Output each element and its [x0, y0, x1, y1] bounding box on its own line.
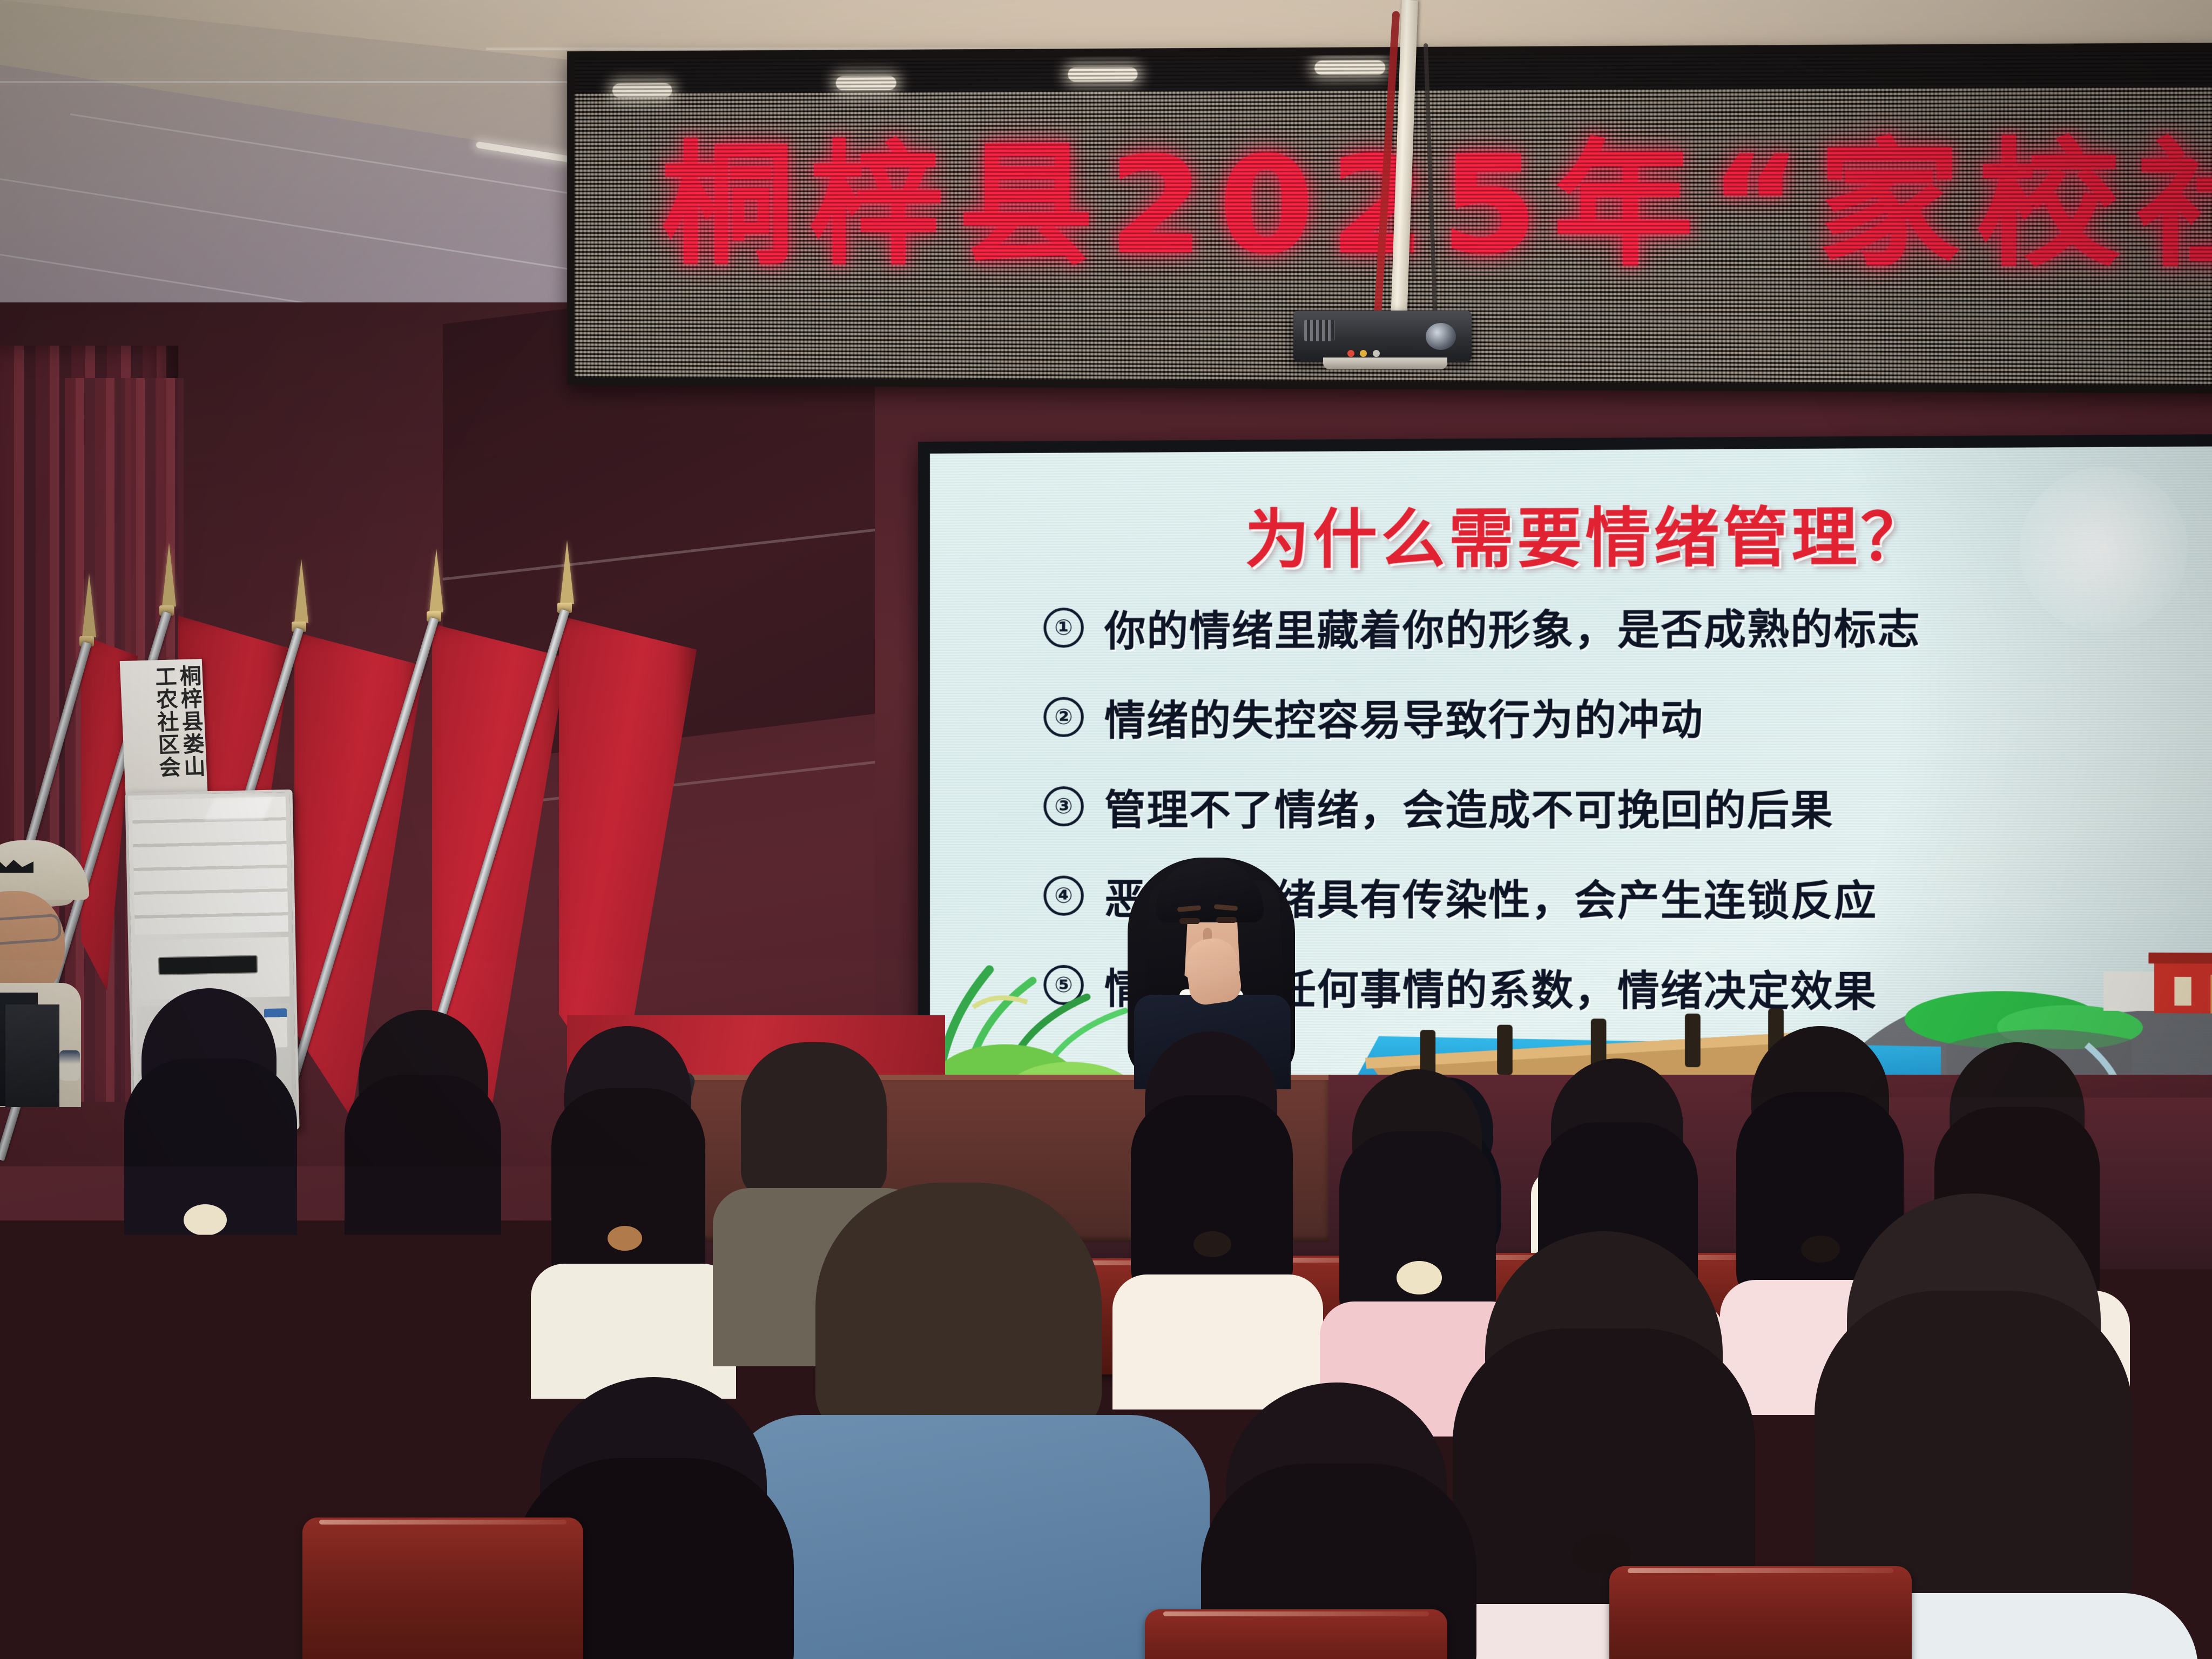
spear-head-icon: [82, 574, 96, 637]
projector-lens: [1426, 323, 1456, 350]
slide-list-item: ② 情绪的失控容易导致行为的冲动: [1043, 685, 2212, 747]
projector-indicator-lights: [1347, 350, 1401, 358]
man-vest-right: [5, 1004, 59, 1107]
auditorium-seat-foreground[interactable]: [1145, 1609, 1447, 1659]
auditorium-seat-foreground[interactable]: [11, 1507, 292, 1659]
audience-hair-short: [815, 1183, 1102, 1437]
speaker-eye-right: [1216, 917, 1237, 923]
spear-head-icon: [294, 559, 308, 623]
presentation-slide: 为什么需要情绪管理？ ① 你的情绪里藏着你的形象，是否成熟的标志 ② 情绪的失控…: [930, 446, 2212, 1107]
ceiling-lamp-reflection: [612, 83, 672, 97]
hair-tie: [1193, 1231, 1231, 1257]
projector-base-plate: [1323, 358, 1447, 369]
ceiling-lamp-reflection: [836, 76, 896, 90]
projection-screen: 为什么需要情绪管理？ ① 你的情绪里藏着你的形象，是否成熟的标志 ② 情绪的失控…: [918, 434, 2212, 1119]
list-number-3: ③: [1043, 786, 1083, 826]
list-number-4: ④: [1043, 875, 1083, 915]
audience-person: [335, 1010, 518, 1345]
sign-column-right: 桐梓县娄山: [177, 664, 205, 811]
sleeve-patch: [59, 1050, 80, 1081]
indicator-red: [1347, 350, 1354, 357]
audience-hair-long: [345, 1075, 501, 1280]
list-number-2: ②: [1043, 697, 1083, 737]
spear-head-icon: [162, 543, 176, 606]
spear-head-icon: [429, 549, 443, 612]
indicator-grey: [1373, 350, 1380, 357]
list-text-3: 管理不了情绪，会造成不可挽回的后果: [1104, 777, 1834, 837]
slide-list-item: ① 你的情绪里藏着你的形象，是否成熟的标志: [1043, 595, 2212, 658]
speaker-eye-left: [1179, 918, 1200, 924]
photograph-scene: 桐梓县娄山 工农社区会 桐梓县2025年“家校社”共育宣讲: [0, 0, 2212, 1659]
ceiling-lamp-reflection: [1068, 67, 1137, 82]
slide-title: 为什么需要情绪管理？: [930, 483, 2212, 582]
audience-hair-short: [741, 1042, 887, 1199]
indicator-amber: [1360, 350, 1367, 357]
projector-vent: [1304, 320, 1334, 341]
hair-scrunchie: [184, 1204, 227, 1236]
slide-list-item: ③ 管理不了情绪，会造成不可挽回的后果: [1043, 777, 2212, 837]
hair-tie: [608, 1226, 642, 1251]
ac-light-glare: [204, 797, 273, 820]
auditorium-seat-foreground[interactable]: [302, 1518, 583, 1659]
spear-head-icon: [560, 540, 574, 604]
audience-person-foreground: [772, 1183, 1172, 1659]
ac-display-screen: [158, 955, 258, 975]
list-text-2: 情绪的失控容易导致行为的冲动: [1104, 686, 1704, 747]
list-number-1: ①: [1043, 608, 1083, 648]
auditorium-seat-foreground[interactable]: [1609, 1566, 1912, 1659]
audience-hair-long: [551, 1088, 705, 1288]
led-banner-text: 桐梓县2025年“家校社”共育宣讲: [661, 136, 2212, 275]
audience-person: [543, 1026, 721, 1350]
list-text-1: 你的情绪里藏着你的形象，是否成熟的标志: [1104, 595, 1921, 657]
ceiling-lamp-reflection: [1314, 60, 1385, 75]
